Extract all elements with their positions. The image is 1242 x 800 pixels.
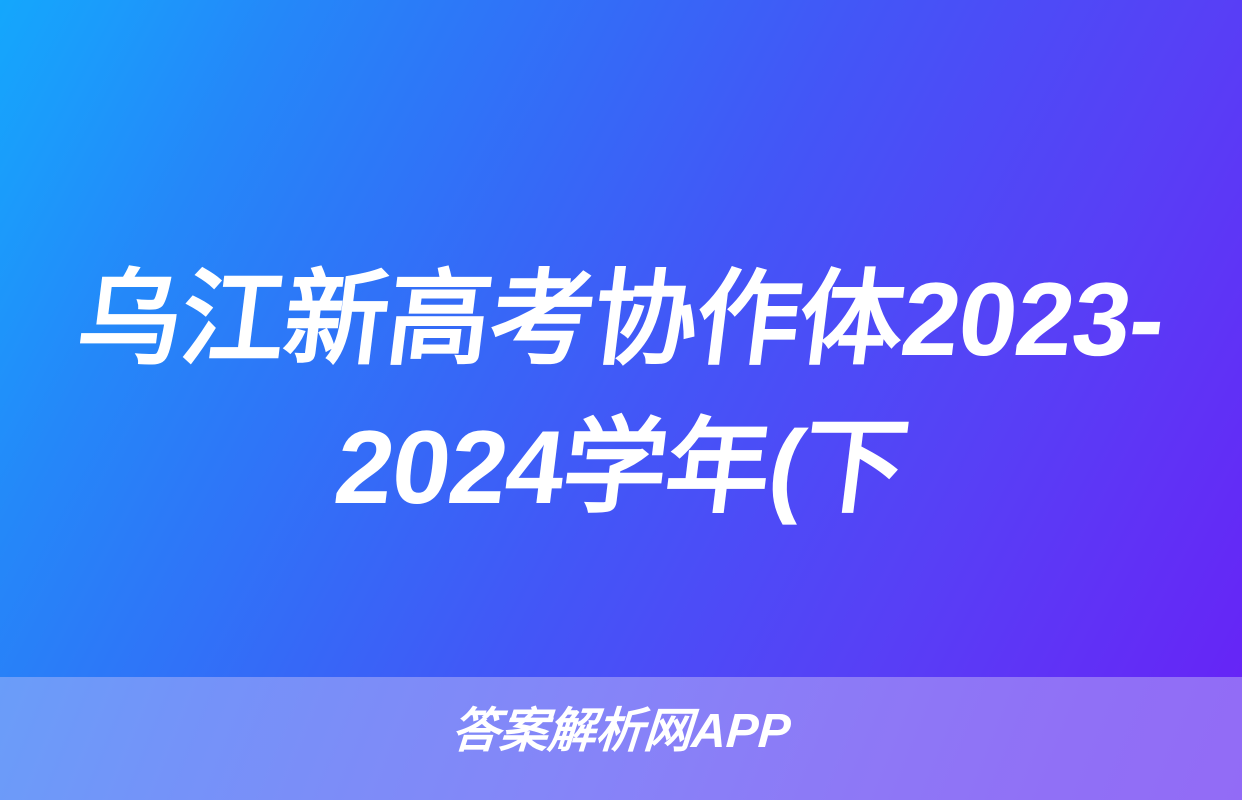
watermark-brand: 答案解析网APP — [0, 702, 1242, 762]
title-line-1: 乌江新高考协作体2023- — [31, 246, 1211, 394]
watermark-text: 答案解析网APP — [450, 705, 792, 758]
cover-card: 乌江新高考协作体2023- 2024学年(下 答案解析网APP — [0, 0, 1242, 800]
title-line-2: 2024学年(下 — [31, 394, 1211, 542]
page-title: 乌江新高考协作体2023- 2024学年(下 — [0, 246, 1242, 542]
